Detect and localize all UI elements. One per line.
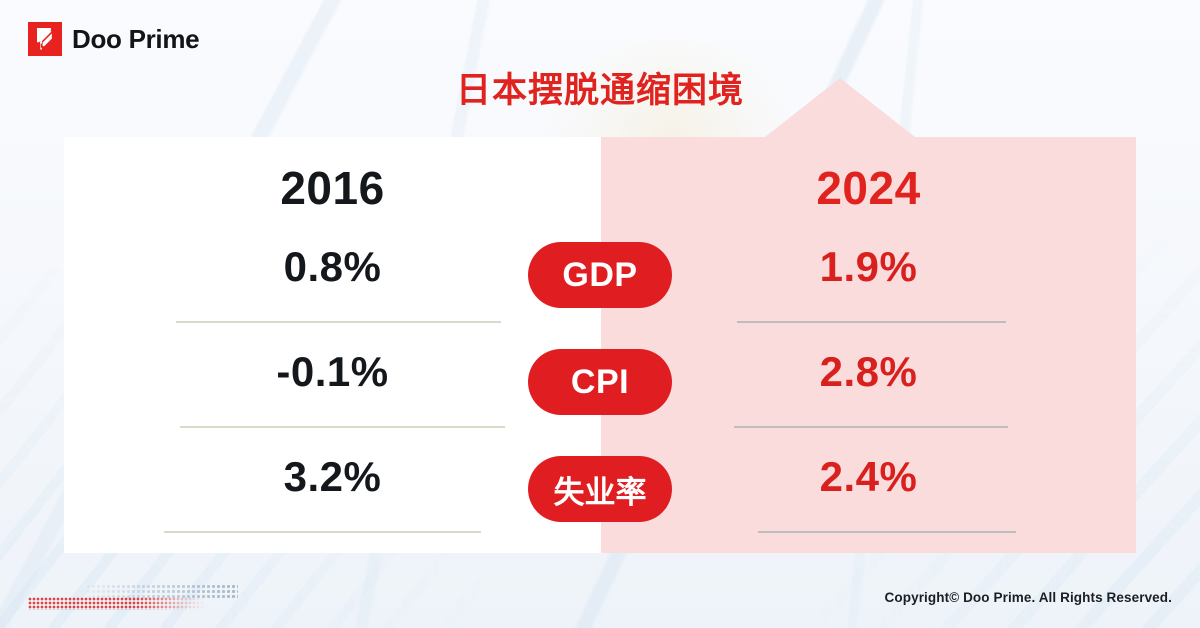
value-2024-cpi: 2.8% <box>601 351 1136 393</box>
page-title: 日本摆脱通缩困境 <box>0 70 1200 112</box>
row-divider <box>737 321 1006 323</box>
decorative-dot-pattern <box>28 584 238 614</box>
metric-labels: GDP CPI 失业率 <box>528 242 672 563</box>
row-divider <box>180 426 505 428</box>
row-divider <box>758 531 1016 533</box>
value-row: 2.8% <box>601 345 1136 450</box>
dot-pattern-red <box>28 597 206 610</box>
metric-pill-gdp: GDP <box>528 242 672 308</box>
infographic-canvas: Doo Prime 日本摆脱通缩困境 2016 0.8% -0.1% 3.2% <box>0 0 1200 628</box>
value-2016-gdp: 0.8% <box>64 246 601 288</box>
column-2016: 2016 0.8% -0.1% 3.2% <box>64 137 601 553</box>
column-2024: 2024 1.9% 2.8% 2.4% <box>601 137 1136 553</box>
row-divider <box>176 321 501 323</box>
value-2016-unemployment: 3.2% <box>64 456 601 498</box>
brand-name: Doo Prime <box>72 26 199 52</box>
value-2016-cpi: -0.1% <box>64 351 601 393</box>
value-row: 1.9% <box>601 240 1136 345</box>
value-row: 0.8% <box>64 240 601 345</box>
column-header-2016: 2016 <box>64 165 601 211</box>
value-row: 2.4% <box>601 450 1136 555</box>
value-row: -0.1% <box>64 345 601 450</box>
copyright-text: Copyright© Doo Prime. All Rights Reserve… <box>885 590 1172 605</box>
value-row: 3.2% <box>64 450 601 555</box>
values-list-2016: 0.8% -0.1% 3.2% <box>64 240 601 553</box>
value-2024-unemployment: 2.4% <box>601 456 1136 498</box>
doo-prime-logo-icon <box>28 22 62 56</box>
metric-pill-unemployment: 失业率 <box>528 456 672 522</box>
column-header-2024: 2024 <box>601 165 1136 211</box>
metric-pill-cpi: CPI <box>528 349 672 415</box>
values-list-2024: 1.9% 2.8% 2.4% <box>601 240 1136 553</box>
row-divider <box>734 426 1008 428</box>
row-divider <box>164 531 481 533</box>
brand-logo: Doo Prime <box>28 22 199 56</box>
value-2024-gdp: 1.9% <box>601 246 1136 288</box>
